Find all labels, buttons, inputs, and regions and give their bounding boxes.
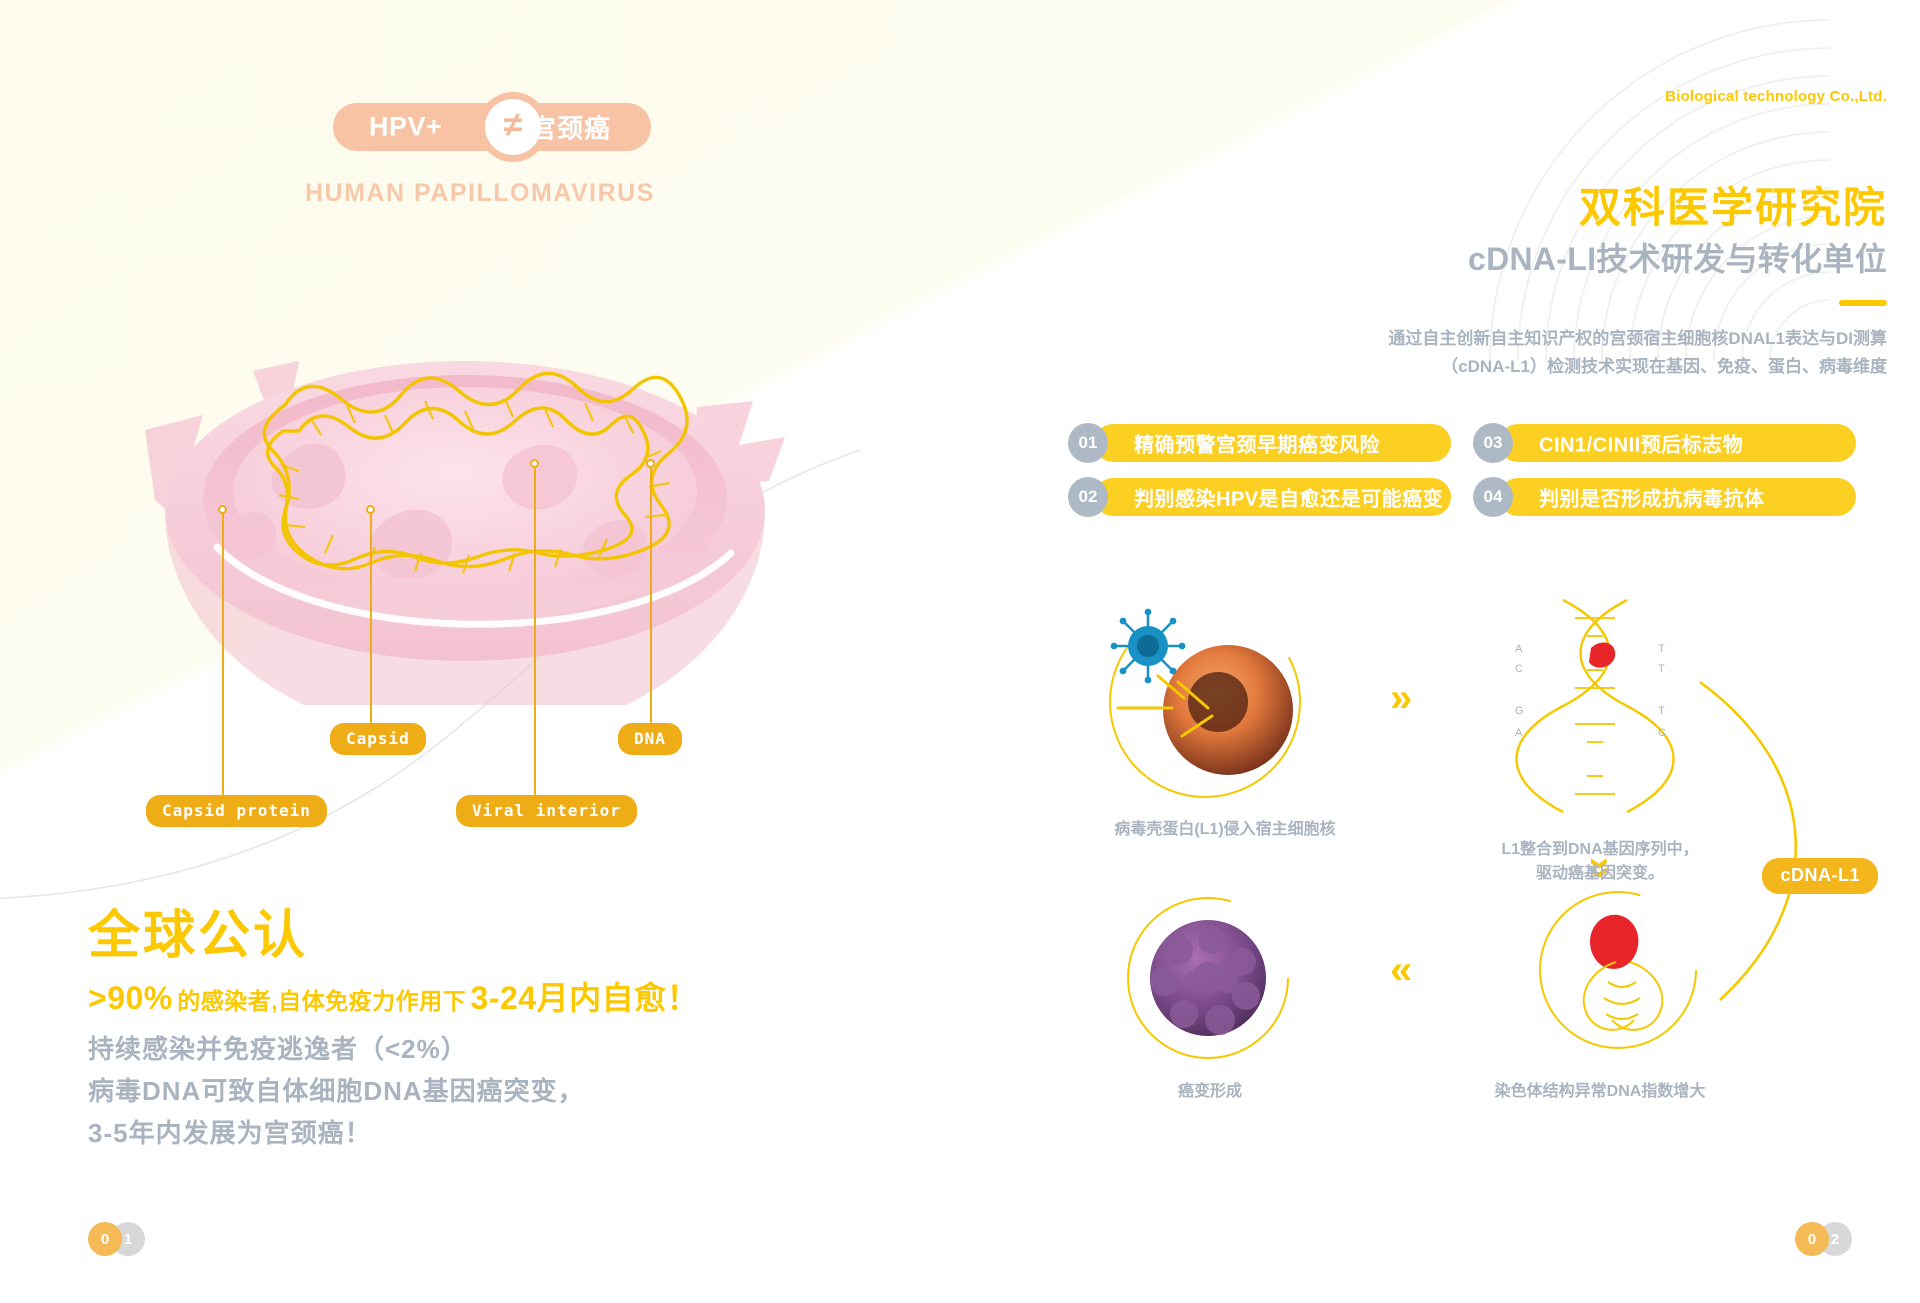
process-caption-step1: 病毒壳蛋白(L1)侵入宿主细胞核 [1060, 818, 1390, 842]
virus-illustration [85, 285, 875, 705]
institute-description-line-2: （cDNA-L1）检测技术实现在基因、免疫、蛋白、病毒维度 [1307, 353, 1887, 381]
institute-title: 双科医学研究院 [1579, 186, 1887, 230]
callout-capsid-protein: Capsid protein [146, 795, 327, 827]
feature-pill-01-number: 01 [1068, 423, 1108, 463]
global-body-line-2: 病毒DNA可致自体细胞DNA基因癌突变， [88, 1070, 585, 1112]
svg-text:C: C [1515, 663, 1523, 675]
concentric-arcs-decoration [1370, 0, 1920, 360]
title-divider [1839, 300, 1887, 306]
svg-text:A: A [1515, 727, 1523, 739]
global-recognition-stat: >90% 的感染者,自体免疫力作用下 3-24月内自愈！ [88, 973, 699, 1019]
feature-pill-04-number: 04 [1473, 477, 1513, 517]
institute-description: 通过自主创新自主知识产权的宫颈宿主细胞核DNAL1表达与DI测算 （cDNA-L… [1307, 325, 1887, 381]
page-number-right: 0 2 [1795, 1222, 1865, 1256]
feature-pill-03-number: 03 [1473, 423, 1513, 463]
global-recognition-body: 持续感染并免疫逃逸者（<2%） 病毒DNA可致自体细胞DNA基因癌突变， 3-5… [88, 1028, 585, 1154]
svg-text:T: T [1658, 705, 1665, 717]
svg-text:A: A [1515, 643, 1523, 655]
cdna-l1-tag: cDNA-L1 [1762, 858, 1878, 894]
page-number-left: 0 1 [88, 1222, 158, 1256]
leader-line-capsid [370, 512, 372, 727]
feature-pill-01-label: 精确预警宫颈早期癌变风险 [1134, 429, 1380, 458]
hpv-badge-left-text: HPV+ [369, 112, 442, 143]
page-number-left-digit-1: 0 [88, 1222, 122, 1256]
hpv-badge-right-text: 宫颈癌 [530, 109, 611, 146]
dna-double-helix [1517, 600, 1674, 812]
chevron-right-icon: » [1390, 678, 1412, 718]
feature-pill-02-number: 02 [1068, 477, 1108, 517]
process-diagram: AC GA TT TC [1060, 590, 1870, 1180]
callout-capsid: Capsid [330, 723, 426, 755]
feature-pill-group: 01 精确预警宫颈早期癌变风险 03 CIN1/CINII预后标志物 02 判别… [1068, 424, 1878, 532]
svg-text:T: T [1658, 643, 1665, 655]
infographic-page: HPV+ ≠ 宫颈癌 HUMAN PAPILLOMAVIRUS Biologic… [0, 0, 1920, 1303]
feature-pill-04[interactable]: 04 判别是否形成抗病毒抗体 [1473, 478, 1856, 516]
global-body-line-1: 持续感染并免疫逃逸者（<2%） [88, 1028, 585, 1070]
hpv-badge: HPV+ ≠ 宫颈癌 [333, 103, 651, 151]
callout-viral-interior: Viral interior [456, 795, 637, 827]
process-caption-step4: 癌变形成 [1090, 1080, 1330, 1104]
leader-line-dna [650, 466, 652, 727]
svg-text:T: T [1658, 663, 1665, 675]
stat-percentage: >90% [88, 980, 173, 1016]
feature-pill-02-label: 判别感染HPV是自愈还是可能癌变 [1134, 483, 1443, 512]
callout-dna: DNA [618, 723, 682, 755]
institute-subtitle: cDNA-LI技术研发与转化单位 [1468, 241, 1887, 278]
stat-end-text: 3-24月内自愈！ [471, 980, 700, 1016]
leader-line-capsid-protein [222, 512, 224, 800]
hpv-subtitle: HUMAN PAPILLOMAVIRUS [305, 179, 655, 208]
svg-text:C: C [1658, 727, 1666, 739]
feature-pill-row-1: 01 精确预警宫颈早期癌变风险 03 CIN1/CINII预后标志物 [1068, 424, 1878, 462]
global-body-line-3: 3-5年内发展为宫颈癌！ [88, 1112, 585, 1154]
feature-pill-03[interactable]: 03 CIN1/CINII预后标志物 [1473, 424, 1856, 462]
feature-pill-02[interactable]: 02 判别感染HPV是自愈还是可能癌变 [1068, 478, 1451, 516]
mutation-marker [1589, 642, 1615, 667]
leader-line-viral-interior [534, 466, 536, 800]
process-caption-step3: 染色体结构异常DNA指数增大 [1450, 1080, 1750, 1104]
svg-text:G: G [1515, 705, 1524, 717]
page-number-right-digit-1: 0 [1795, 1222, 1829, 1256]
feature-pill-01[interactable]: 01 精确预警宫颈早期癌变风险 [1068, 424, 1451, 462]
institute-description-line-1: 通过自主创新自主知识产权的宫颈宿主细胞核DNAL1表达与DI测算 [1307, 325, 1887, 353]
feature-pill-row-2: 02 判别感染HPV是自愈还是可能癌变 04 判别是否形成抗病毒抗体 [1068, 478, 1878, 516]
tumor-mass [1150, 920, 1266, 1036]
stat-middle-text: 的感染者,自体免疫力作用下 [177, 988, 466, 1014]
company-name: Biological technology Co.,Ltd. [1665, 88, 1887, 105]
global-recognition-title: 全球公认 [88, 893, 308, 968]
process-caption-step2: L1整合到DNA基因序列中， 驱动癌基因突变。 [1450, 838, 1750, 886]
abnormal-chromosome [1584, 915, 1663, 1030]
chevron-left-icon: « [1390, 950, 1412, 990]
feature-pill-03-label: CIN1/CINII预后标志物 [1539, 429, 1743, 458]
feature-pill-04-label: 判别是否形成抗病毒抗体 [1539, 483, 1765, 512]
virus-particle [1111, 609, 1186, 684]
